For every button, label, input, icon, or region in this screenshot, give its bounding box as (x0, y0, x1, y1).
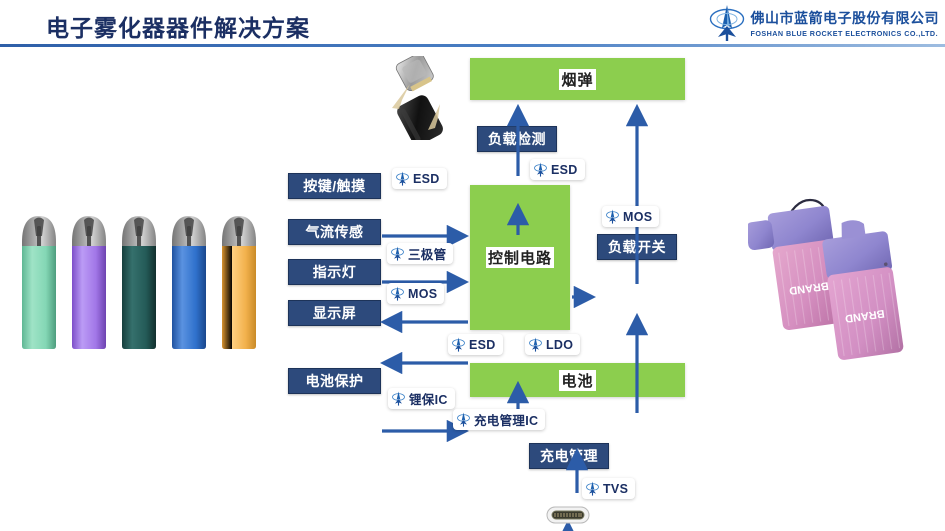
company-name-cn: 佛山市蓝箭电子股份有限公司 (751, 8, 940, 28)
vape-blue (172, 216, 206, 349)
logo-text-block: 佛山市蓝箭电子股份有限公司 FOSHAN BLUE ROCKET ELECTRO… (751, 8, 940, 38)
chip-mos-display-label: MOS (408, 287, 437, 301)
chip-tvs-label: TVS (603, 482, 628, 496)
chip-esd-key-touch-label: ESD (413, 172, 440, 186)
page-header: 电子雾化器器件解决方案 佛山市蓝箭电子股份有限公司 FOSHAN BLUE RO… (0, 0, 945, 48)
chip-lipo-protect-ic: 锂保IC (388, 388, 455, 409)
chip-charge-mgmt-ic-label: 充电管理IC (474, 410, 538, 429)
chip-esd-load-detect-label: ESD (551, 163, 578, 177)
chip-mos-display: MOS (387, 283, 444, 304)
usb-c-connector-image (546, 505, 590, 525)
rocket-logo-icon (396, 171, 409, 186)
vape-mint (22, 216, 56, 349)
rocket-logo-icon (529, 337, 542, 352)
page-title: 电子雾化器器件解决方案 (46, 9, 310, 43)
chip-esd-load-detect: ESD (530, 159, 585, 180)
chip-mos-load-switch: MOS (602, 206, 659, 227)
usb-c-svg (546, 505, 590, 525)
rocket-logo-icon (534, 162, 547, 177)
chip-lipo-protect-ic-label: 锂保IC (409, 389, 448, 408)
rocket-logo-icon (392, 391, 405, 406)
chip-ldo-label: LDO (546, 338, 573, 352)
rocket-logo-icon (709, 4, 745, 42)
chip-ldo: LDO (525, 334, 580, 355)
chip-esd-key-touch: ESD (392, 168, 447, 189)
chip-esd-battery: ESD (448, 334, 503, 355)
vape-teal (122, 216, 156, 349)
diagram-arrows (286, 50, 706, 531)
rocket-logo-icon (452, 337, 465, 352)
rocket-logo-icon (391, 286, 404, 301)
vape-device-lineup-image (18, 196, 270, 356)
rocket-logo-icon (606, 209, 619, 224)
vape-purple (72, 216, 106, 349)
header-divider (0, 44, 945, 47)
vape-orange (222, 216, 256, 349)
pod-pair-product-image: BRAND BRAND (748, 196, 938, 361)
chip-mos-load-switch-label: MOS (623, 210, 652, 224)
chip-tvs: TVS (582, 478, 635, 499)
chip-esd-battery-label: ESD (469, 338, 496, 352)
company-logo: 佛山市蓝箭电子股份有限公司 FOSHAN BLUE ROCKET ELECTRO… (709, 4, 940, 42)
rocket-logo-icon (391, 246, 404, 261)
chip-transistor: 三极管 (387, 243, 453, 264)
rocket-logo-icon (457, 412, 470, 427)
chip-charge-mgmt-ic: 充电管理IC (453, 409, 545, 430)
chip-transistor-label: 三极管 (408, 244, 446, 263)
pod-pair-svg: BRAND BRAND (748, 196, 938, 361)
company-name-en: FOSHAN BLUE ROCKET ELECTRONICS CO.,LTD. (751, 29, 940, 38)
vape-lineup-svg (18, 196, 270, 356)
rocket-logo-icon (586, 481, 599, 496)
